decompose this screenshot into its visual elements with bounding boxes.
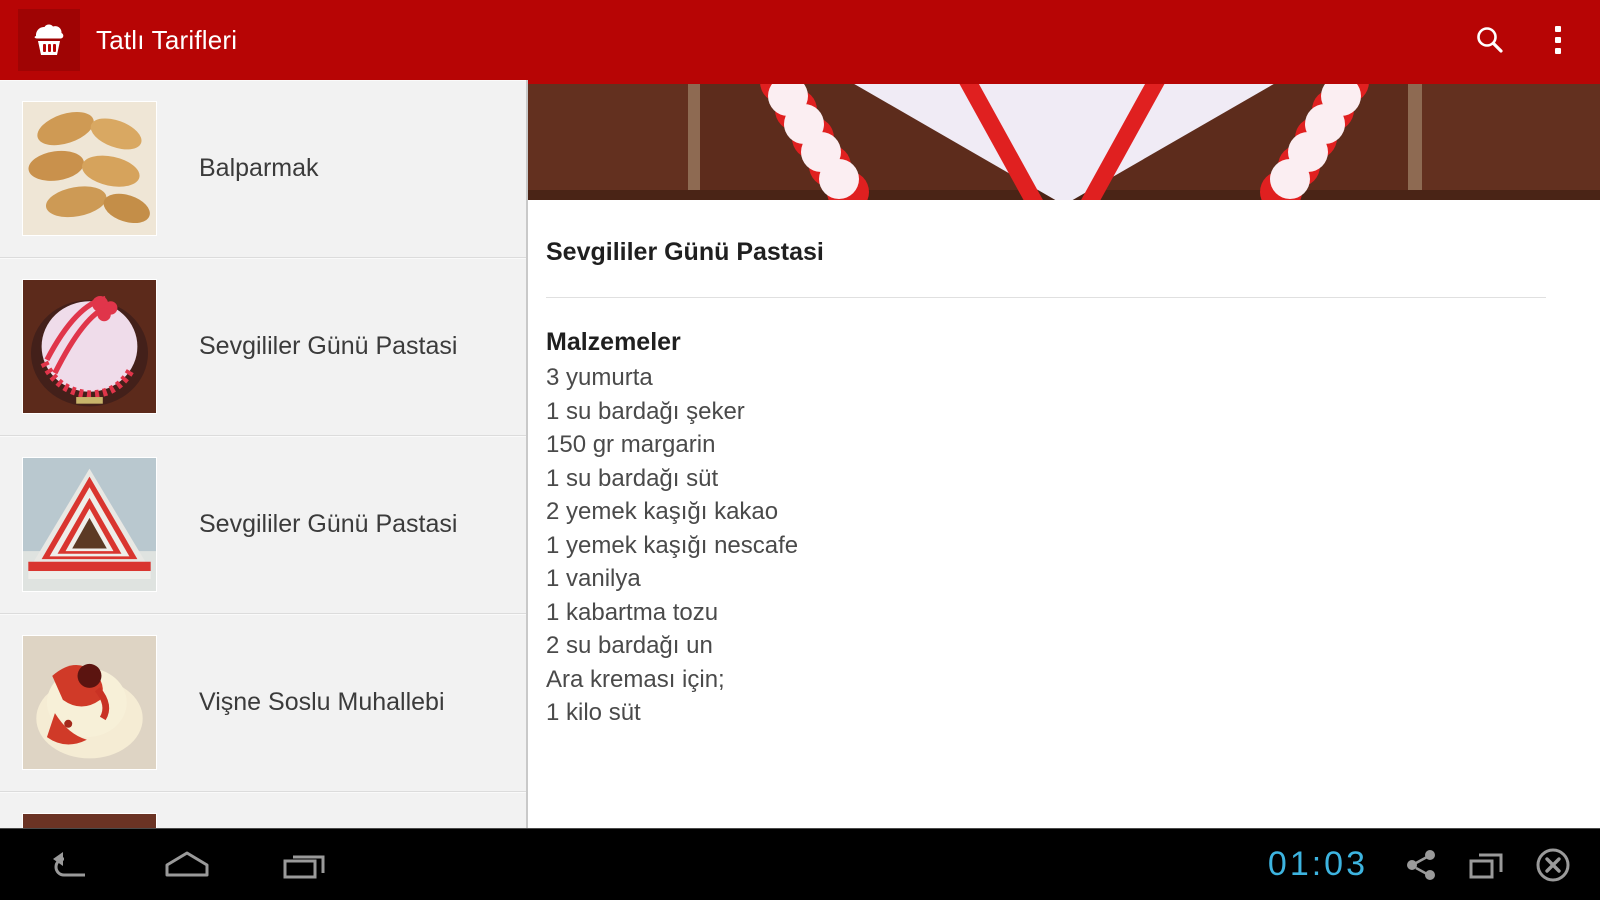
ingredient-item: 2 yemek kaşığı kakao — [546, 495, 1600, 529]
recipe-thumbnail — [22, 101, 157, 236]
close-button[interactable] — [1520, 829, 1586, 900]
recipe-hero-image — [528, 80, 1600, 200]
app-root: Tatlı Tarifleri — [0, 0, 1600, 900]
list-item[interactable]: Balparmak — [0, 80, 526, 258]
ingredient-item: 1 vanilya — [546, 562, 1600, 596]
navbar-status-group: 01:03 — [1268, 829, 1586, 900]
pink-heart-cake-thumbnail — [23, 280, 156, 413]
list-item[interactable]: Sevgililer Günü Pastasi — [0, 436, 526, 614]
screenshot-icon — [1468, 848, 1506, 882]
app-icon[interactable] — [18, 9, 80, 71]
cherry-pudding-thumbnail — [23, 636, 156, 769]
ingredient-item: 1 kabartma tozu — [546, 596, 1600, 630]
recents-button[interactable] — [246, 829, 364, 900]
overflow-menu-button[interactable] — [1526, 0, 1590, 80]
back-button[interactable] — [10, 829, 128, 900]
action-bar: Tatlı Tarifleri — [0, 0, 1600, 80]
system-navigation-bar: 01:03 — [0, 828, 1600, 900]
ingredients-heading: Malzemeler — [546, 328, 1600, 357]
ingredient-item: 1 kilo süt — [546, 696, 1600, 730]
ingredients-list: 3 yumurta 1 su bardağı şeker 150 gr marg… — [546, 361, 1600, 730]
list-item-label: Vişne Soslu Muhallebi — [199, 688, 445, 717]
search-button[interactable] — [1454, 0, 1526, 80]
screenshot-button[interactable] — [1454, 829, 1520, 900]
ingredient-item: Ara kreması için; — [546, 663, 1600, 697]
overflow-menu-icon — [1555, 24, 1561, 57]
ingredient-item: 1 su bardağı süt — [546, 462, 1600, 496]
back-arrow-icon — [45, 845, 93, 885]
ingredient-item: 3 yumurta — [546, 361, 1600, 395]
app-title: Tatlı Tarifleri — [96, 25, 237, 56]
ingredient-item: 2 su bardağı un — [546, 629, 1600, 663]
list-item[interactable] — [0, 792, 526, 828]
ingredient-item: 1 su bardağı şeker — [546, 395, 1600, 429]
recipe-thumbnail — [22, 635, 157, 770]
partial-item-thumbnail — [23, 814, 156, 828]
recipe-title: Sevgililer Günü Pastasi — [546, 238, 1600, 267]
nav-button-group — [10, 829, 364, 900]
home-icon — [161, 845, 213, 885]
recipe-thumbnail — [22, 457, 157, 592]
close-icon — [1533, 845, 1573, 885]
search-icon — [1473, 23, 1507, 57]
recipe-list[interactable]: Balparmak Sevgililer Günü Pastasi — [0, 80, 526, 828]
list-item[interactable]: Sevgililer Günü Pastasi — [0, 258, 526, 436]
cupcake-icon — [28, 19, 70, 61]
ingredient-item: 1 yemek kaşığı nescafe — [546, 529, 1600, 563]
share-button[interactable] — [1388, 829, 1454, 900]
ingredient-item: 150 gr margarin — [546, 428, 1600, 462]
share-icon — [1403, 847, 1439, 883]
recipe-detail-pane: Sevgililer Günü Pastasi Malzemeler 3 yum… — [528, 80, 1600, 828]
recipe-thumbnail — [22, 813, 157, 828]
list-item-label: Sevgililer Günü Pastasi — [199, 332, 457, 361]
list-item-label: Sevgililer Günü Pastasi — [199, 510, 457, 539]
title-divider — [546, 297, 1546, 298]
recipe-thumbnail — [22, 279, 157, 414]
red-white-cake-thumbnail — [23, 458, 156, 591]
balparmak-cookies-thumbnail — [23, 102, 156, 235]
list-item[interactable]: Vişne Soslu Muhallebi — [0, 614, 526, 792]
recording-timer: 01:03 — [1268, 845, 1368, 884]
recents-icon — [280, 845, 330, 885]
home-button[interactable] — [128, 829, 246, 900]
list-item-label: Balparmak — [199, 154, 319, 183]
valentine-cake-photo — [528, 80, 1600, 200]
